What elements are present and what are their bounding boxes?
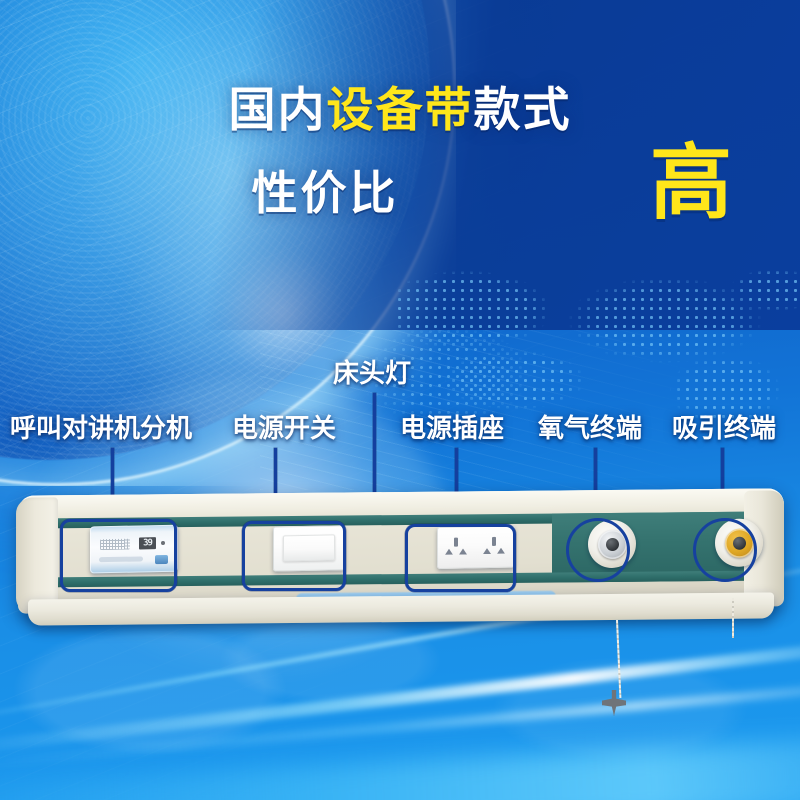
callout-label-power-socket: 电源插座 <box>400 415 504 441</box>
callout-label-suction-terminal: 吸引终端 <box>672 415 776 441</box>
highlight-box-power-switch <box>242 521 346 591</box>
callout-label-intercom: 呼叫对讲机分机 <box>10 415 192 441</box>
panel-end-cap-left <box>16 497 58 613</box>
callout-label-oxygen-terminal: 氧气终端 <box>538 415 642 441</box>
banner-canvas: 国内设备带款式 性价比 高 呼叫对讲机分机 电源开关 床头灯 电源插座 氧气终端… <box>0 0 800 800</box>
pull-cord-upper <box>732 598 734 638</box>
callout-label-power-switch: 电源开关 <box>232 415 336 441</box>
callout-label-bed-lamp: 床头灯 <box>333 360 411 386</box>
highlight-circle-oxygen <box>566 518 630 582</box>
highlight-box-intercom <box>60 519 177 592</box>
headline-emphasis-char: 高 <box>650 143 732 225</box>
highlight-circle-suction <box>693 518 757 582</box>
highlight-box-power-socket <box>405 524 516 592</box>
